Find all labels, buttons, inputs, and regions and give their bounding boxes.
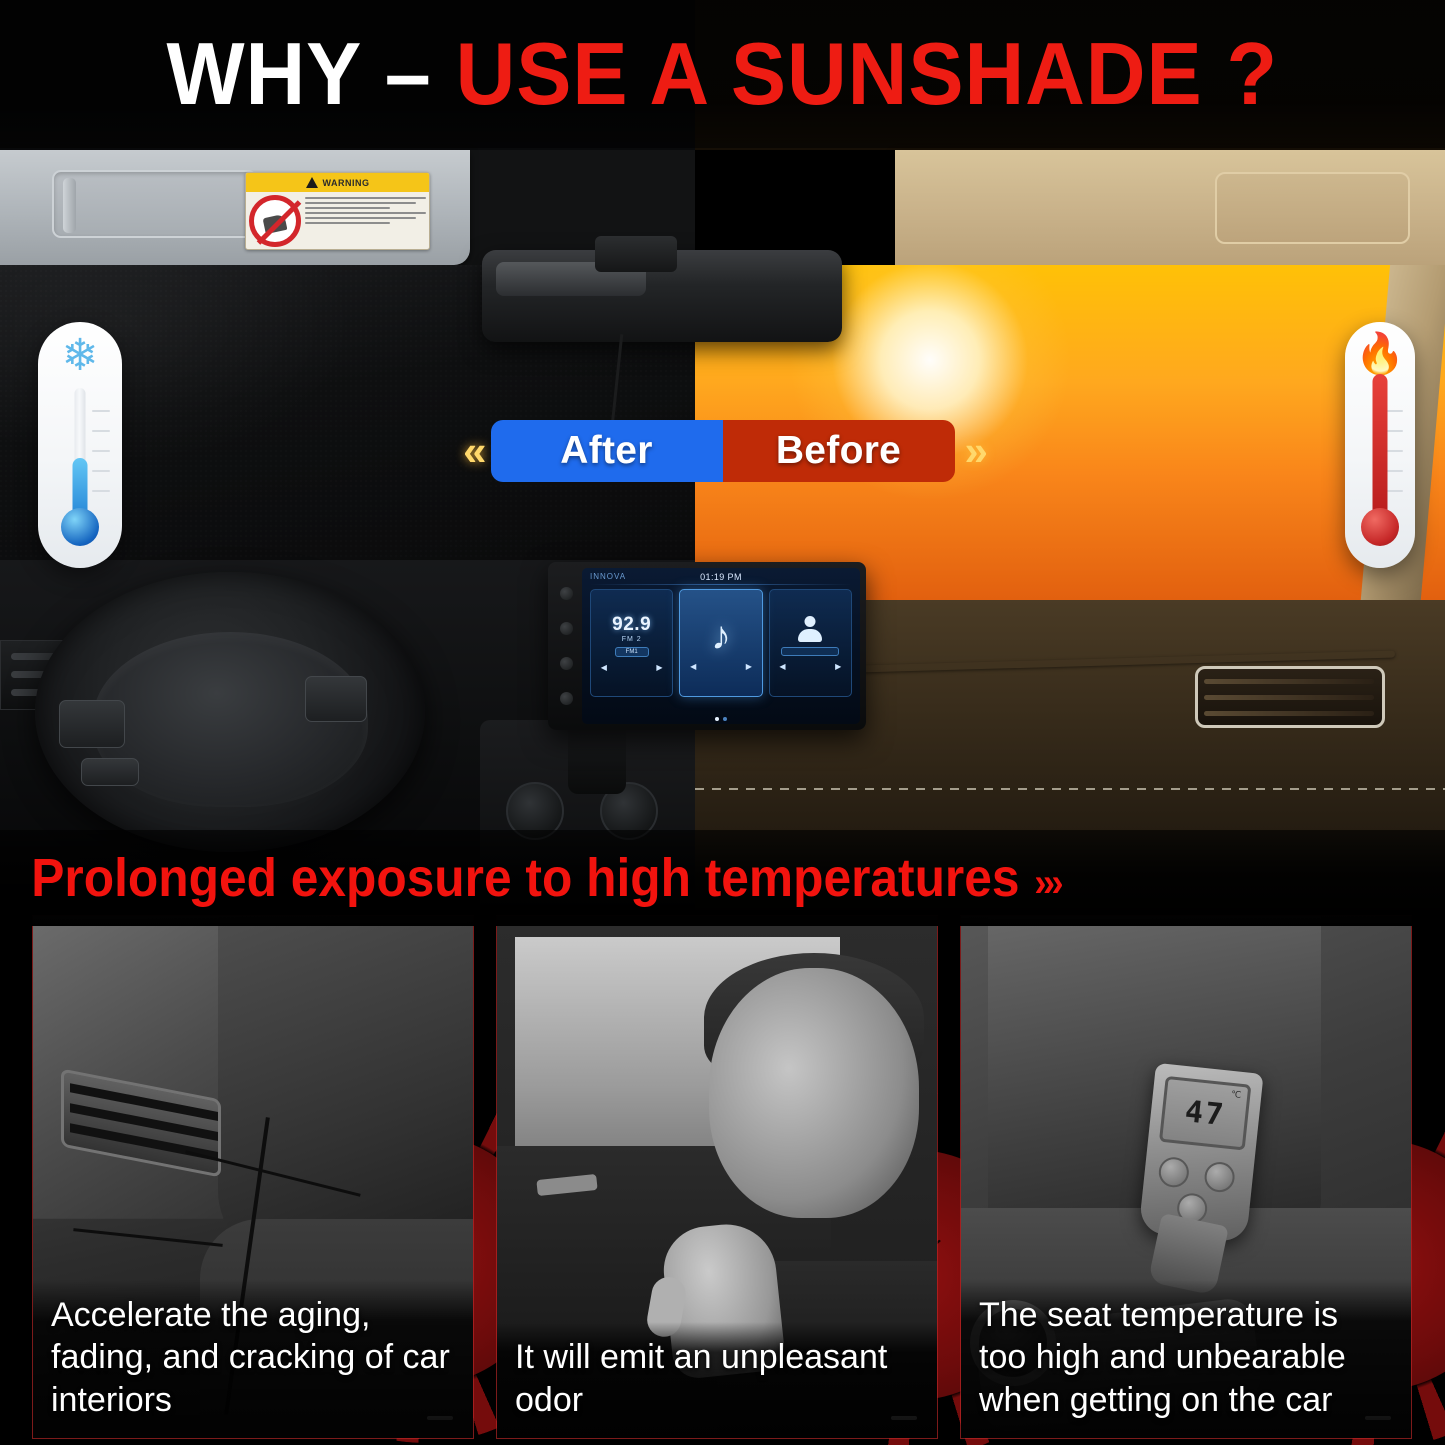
warning-label-body: [246, 192, 429, 250]
head-unit-tiles: 92.9 FM 2 FM1 ◀ ▶ ♪ ◀ ▶: [582, 589, 860, 697]
comparison-badges: « After Before »: [0, 415, 1445, 487]
radio-tuning-arrows[interactable]: ◀ ▶: [601, 663, 663, 672]
page-indicator-dots[interactable]: [715, 717, 727, 721]
profile-arrows[interactable]: ◀ ▶: [779, 662, 841, 671]
hot-thermometer-bulb: [1361, 508, 1399, 546]
no-child-seat-icon: [249, 195, 301, 247]
warning-label-header: WARNING: [246, 173, 429, 192]
before-badge[interactable]: Before: [723, 420, 955, 482]
head-unit-screen[interactable]: INNOVA 01:19 PM 92.9 FM 2 FM1 ◀ ▶: [582, 568, 860, 724]
subhead: Prolonged exposure to high temperatures›…: [0, 847, 1060, 909]
infrared-thermometer: ℃ 47: [1138, 1063, 1263, 1243]
left-chevron-icon: «: [453, 430, 490, 472]
infotainment-head-unit[interactable]: INNOVA 01:19 PM 92.9 FM 2 FM1 ◀ ▶: [548, 562, 866, 730]
title-red-part: USE A SUNSHADE ?: [456, 24, 1278, 123]
page-title: WHY – USE A SUNSHADE ?: [167, 30, 1279, 118]
profile-slider[interactable]: [781, 647, 839, 656]
head-unit-clock: 01:19 PM: [700, 572, 742, 582]
sunshade-infographic: WARNING: [0, 0, 1445, 1445]
profile-prev-icon[interactable]: ◀: [779, 662, 785, 671]
consequence-panels: ⚡ ⚡ ⚡ Accelerate the aging, fading, and: [0, 915, 1445, 1445]
head-unit-mount: [568, 726, 626, 794]
radio-frequency: 92.9: [612, 615, 651, 634]
radio-prev-icon[interactable]: ◀: [601, 663, 607, 672]
power-button[interactable]: [560, 587, 573, 600]
flame-icon: 🔥: [1355, 334, 1405, 374]
music-tile[interactable]: ♪ ◀ ▶: [679, 589, 762, 697]
radio-next-icon[interactable]: ▶: [656, 663, 662, 672]
panel-2-caption: It will emit an unpleasant odor: [497, 1322, 937, 1438]
panel-1-caption-text: Accelerate the aging, fading, and cracki…: [51, 1294, 455, 1422]
snowflake-icon: ❄: [62, 334, 99, 378]
title-bar: WHY – USE A SUNSHADE ?: [0, 0, 1445, 148]
menu-button[interactable]: [560, 622, 573, 635]
panel-hot-seat: ℃ 47 The seat temperature is too high an…: [960, 915, 1412, 1439]
thermometer-lcd: ℃ 47: [1159, 1076, 1251, 1151]
volume-button[interactable]: [560, 657, 573, 670]
radio-preset-chip[interactable]: FM1: [615, 647, 649, 657]
profile-next-icon[interactable]: ▶: [835, 662, 841, 671]
subhead-text: Prolonged exposure to high temperatures: [31, 848, 1019, 908]
head-unit-brand: INNOVA: [590, 572, 626, 581]
radio-band: FM 2: [622, 636, 642, 643]
dashboard-stitching: [695, 788, 1445, 790]
thermometer-button-2[interactable]: [1203, 1161, 1236, 1194]
after-visor-pocket: [52, 170, 257, 238]
steering-wheel-button-lower: [81, 758, 139, 786]
airbag-warning-label: WARNING: [245, 172, 430, 250]
before-visor-pocket: [1215, 172, 1410, 244]
steering-wheel-button-right: [305, 676, 367, 722]
panel-3-caption: The seat temperature is too high and unb…: [961, 1280, 1411, 1438]
mirror-stem: [595, 236, 677, 272]
cold-thermometer-bulb: [61, 508, 99, 546]
head-unit-statusbar: INNOVA 01:19 PM: [582, 568, 860, 583]
panel-3-caption-text: The seat temperature is too high and unb…: [979, 1294, 1393, 1422]
warning-triangle-icon: [306, 177, 318, 188]
panel-unpleasant-odor: It will emit an unpleasant odor: [496, 915, 938, 1439]
warning-label-text-lines: [305, 195, 426, 247]
thermometer-unit-label: ℃: [1231, 1089, 1242, 1101]
right-chevron-icon: »: [955, 430, 992, 472]
dashboard-crack-3: [73, 1228, 222, 1247]
steering-wheel: [35, 572, 425, 852]
panel-1-caption: Accelerate the aging, fading, and cracki…: [33, 1280, 473, 1438]
title-white-part: WHY –: [167, 24, 456, 123]
subhead-band: Prolonged exposure to high temperatures›…: [0, 830, 1445, 926]
music-next-icon[interactable]: ▶: [746, 662, 752, 671]
profile-tile[interactable]: ◀ ▶: [769, 589, 852, 697]
person-icon: [798, 616, 822, 642]
panel-interior-aging: Accelerate the aging, fading, and cracki…: [32, 915, 474, 1439]
before-air-vent: [1195, 666, 1385, 728]
child-seat-glyph: [263, 214, 288, 234]
warning-label-heading: WARNING: [323, 178, 370, 188]
home-button[interactable]: [560, 692, 573, 705]
thermometer-reading: 47: [1183, 1094, 1227, 1133]
radio-tile[interactable]: 92.9 FM 2 FM1 ◀ ▶: [590, 589, 673, 697]
head-unit-side-buttons[interactable]: [554, 576, 578, 716]
thermometer-button-1[interactable]: [1157, 1156, 1190, 1189]
after-badge[interactable]: After: [491, 420, 723, 482]
panel-2-caption-text: It will emit an unpleasant odor: [515, 1336, 919, 1422]
mans-head: [709, 968, 919, 1218]
steering-wheel-button-left: [59, 700, 125, 748]
subhead-arrows-icon: ›››: [1020, 861, 1060, 905]
music-transport-arrows[interactable]: ◀ ▶: [690, 662, 752, 671]
before-sun-visor: [895, 150, 1445, 280]
statusbar-divider: [590, 584, 852, 585]
music-note-icon: ♪: [711, 616, 731, 656]
music-prev-icon[interactable]: ◀: [690, 662, 696, 671]
